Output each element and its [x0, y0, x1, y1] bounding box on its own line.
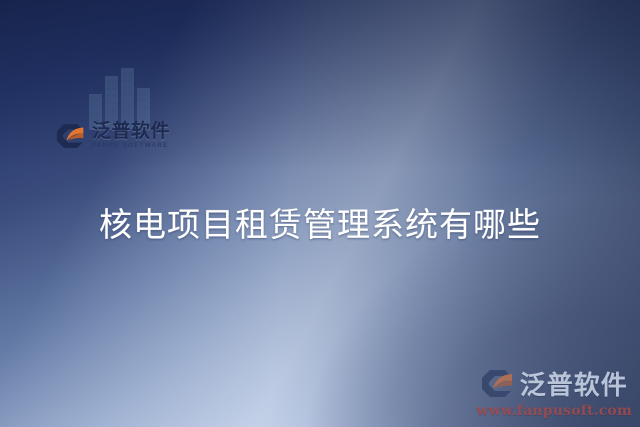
- brand-name-en: FANPU SOFTWARE: [92, 143, 170, 149]
- brand-logo: 泛普软件 FANPU SOFTWARE: [56, 122, 170, 149]
- fanpu-swoosh-logo-icon: [56, 123, 86, 149]
- brand-text-block: 泛普软件 FANPU SOFTWARE: [92, 122, 170, 149]
- slide-canvas: 泛普软件 FANPU SOFTWARE 核电项目租赁管理系统有哪些 泛普软件 w…: [0, 0, 640, 427]
- brand-name-cn: 泛普软件: [92, 122, 170, 141]
- page-title: 核电项目租赁管理系统有哪些: [0, 198, 640, 246]
